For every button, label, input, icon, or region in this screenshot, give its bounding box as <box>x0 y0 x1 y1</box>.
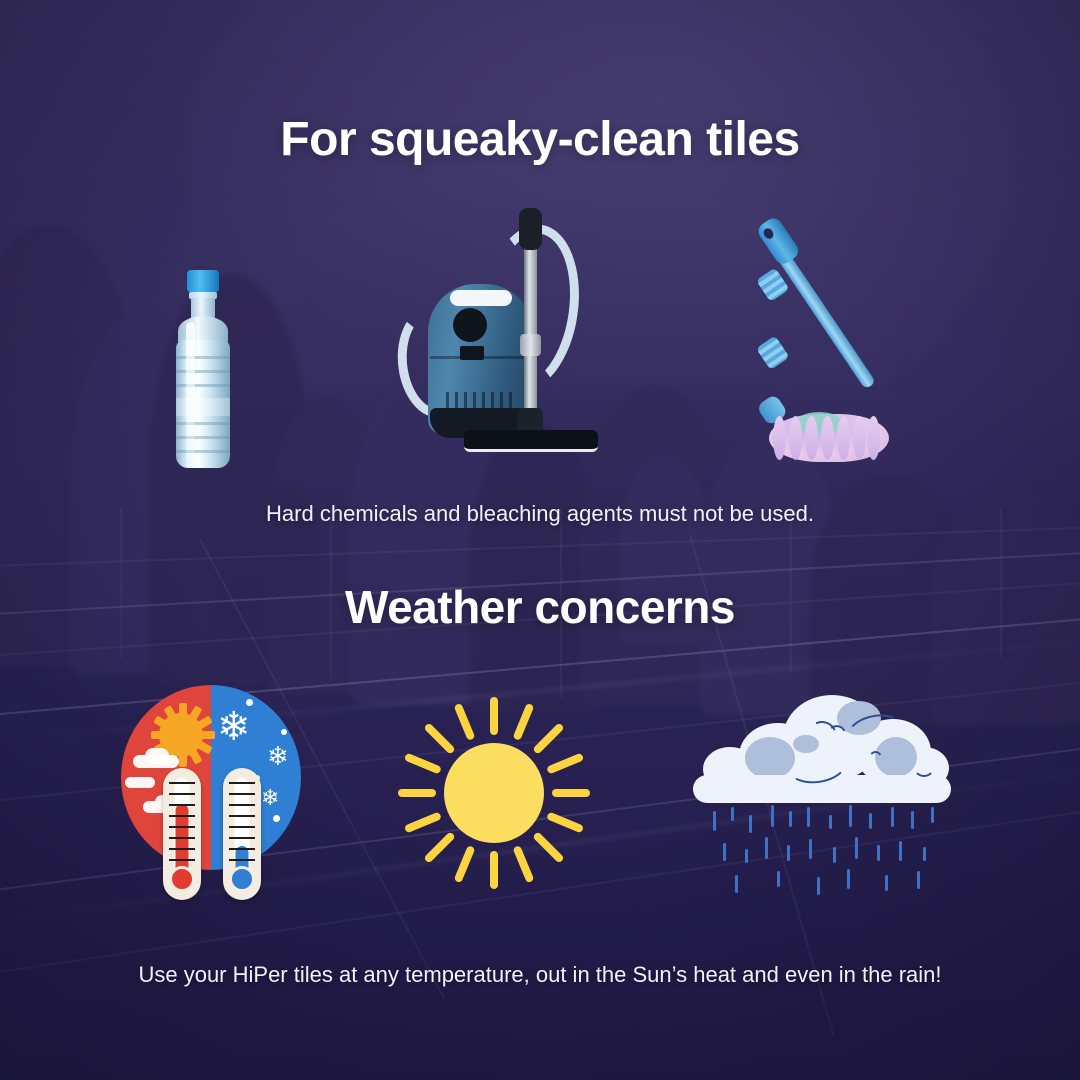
promo-graphic: For squeaky-clean tiles <box>0 0 1080 1080</box>
icon-cell-sun <box>396 695 592 891</box>
hot-cold-thermometer-icon: ❄ ❄ ❄ <box>121 685 301 900</box>
icon-cell-rain-cloud <box>687 685 959 900</box>
vacuum-cleaner-icon <box>406 202 581 470</box>
icon-cell-vacuum <box>406 202 581 470</box>
caption-cleaning: Hard chemicals and bleaching agents must… <box>0 499 1080 529</box>
page-title-cleaning: For squeaky-clean tiles <box>0 110 1080 170</box>
cleaning-icon-row <box>0 190 1080 470</box>
thermometer-cold <box>223 768 261 900</box>
page-title-weather: Weather concerns <box>0 578 1080 636</box>
water-bottle-icon <box>170 270 236 470</box>
weather-icon-row: ❄ ❄ ❄ <box>0 675 1080 910</box>
icon-cell-hot-cold: ❄ ❄ ❄ <box>121 685 301 900</box>
caption-weather: Use your HiPer tiles at any temperature,… <box>0 960 1080 990</box>
icon-cell-mop <box>751 220 911 470</box>
mop-icon <box>751 220 911 470</box>
sun-icon <box>396 695 592 891</box>
icon-cell-bottle <box>170 270 236 470</box>
thermometer-hot <box>163 768 201 900</box>
rain-cloud-icon <box>687 685 959 900</box>
